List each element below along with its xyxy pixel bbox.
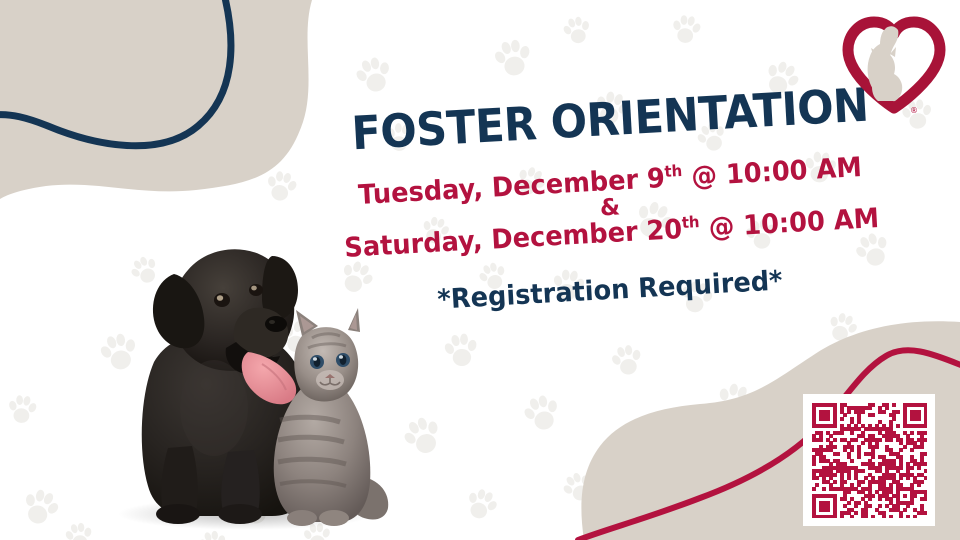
paw-print-icon <box>262 168 300 206</box>
event-date-2-ordinal: th <box>681 212 700 232</box>
cat-silhouette-icon <box>871 48 902 101</box>
paw-print-icon <box>668 12 704 48</box>
paw-print-icon <box>520 392 564 436</box>
trademark-symbol: ® <box>910 106 918 115</box>
paw-print-icon <box>440 330 482 372</box>
kitten-figure <box>274 308 388 526</box>
flyer-canvas: FOSTER ORIENTATION Tuesday, December 9th… <box>0 0 960 540</box>
paw-print-icon <box>400 414 446 460</box>
paw-print-icon <box>490 36 536 82</box>
text-content: FOSTER ORIENTATION Tuesday, December 9th… <box>330 96 890 304</box>
paw-print-icon <box>18 486 62 530</box>
paw-print-icon <box>560 14 594 48</box>
paw-print-icon <box>4 392 40 428</box>
paw-print-icon <box>462 486 500 524</box>
paw-print-icon <box>62 520 96 540</box>
tan-blob-top-left <box>0 0 312 199</box>
qr-code-canvas[interactable] <box>812 403 927 518</box>
registration-note: *Registration Required* <box>344 262 877 319</box>
paw-print-icon <box>824 310 860 346</box>
page-title: FOSTER ORIENTATION <box>349 81 872 156</box>
paw-print-icon <box>914 330 958 374</box>
navy-curve-line <box>0 0 231 146</box>
paw-print-icon <box>352 54 396 98</box>
event-date-1-ordinal: th <box>664 161 683 181</box>
paw-print-icon <box>560 470 596 506</box>
paw-print-icon <box>608 342 646 380</box>
paw-print-icon <box>648 430 682 464</box>
paw-print-icon <box>712 380 756 424</box>
heart-dog-cat-logo: ® <box>840 14 948 118</box>
qr-code[interactable] <box>803 394 935 526</box>
